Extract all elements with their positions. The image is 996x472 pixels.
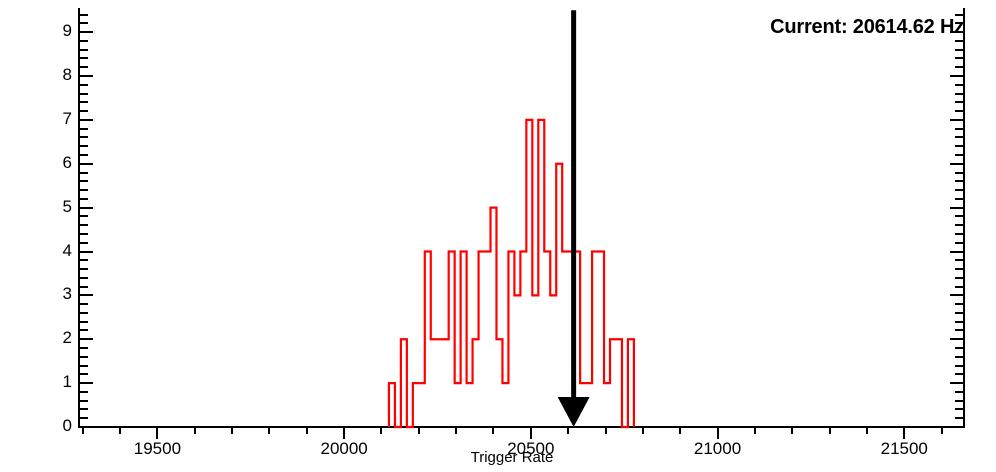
y-tick-minor [80,373,88,375]
y-tick-minor [80,286,88,288]
y-tick-minor [80,312,88,314]
y-tick-minor [80,180,88,182]
x-tick-major [903,428,905,439]
y-tick-label-wrap: 6 [42,154,72,171]
marker-arrow-head [558,397,590,427]
y-tick-minor [80,303,88,305]
right-tick-major [950,338,963,340]
right-tick-minor [955,66,963,68]
x-tick-minor [679,428,681,434]
y-tick-minor [80,93,88,95]
x-tick-major [530,428,532,439]
x-tick-minor [455,428,457,434]
right-tick-minor [955,128,963,130]
y-tick-label-wrap: 9 [42,22,72,39]
right-tick-minor [955,172,963,174]
right-tick-minor [955,154,963,156]
y-tick-major [80,75,93,77]
y-tick-minor [80,66,88,68]
x-tick-major [343,428,345,439]
y-tick-minor [80,101,88,103]
y-tick-major [80,382,93,384]
right-tick-minor [955,224,963,226]
y-tick-label: 0 [46,417,72,434]
root-canvas: 0123456789 1950020000205002100021500 Cur… [0,0,996,472]
right-tick-minor [955,347,963,349]
y-tick-minor [80,233,88,235]
x-tick-minor [82,428,84,434]
y-tick-major [80,163,93,165]
y-tick-major [80,294,93,296]
x-tick-minor [941,428,943,434]
y-tick-major [80,119,93,121]
right-tick-minor [955,40,963,42]
y-tick-label-wrap: 8 [42,66,72,83]
y-tick-label-wrap: 7 [42,110,72,127]
right-tick-minor [955,189,963,191]
right-tick-minor [955,400,963,402]
x-tick-minor [231,428,233,434]
y-tick-label-wrap: 1 [42,373,72,390]
y-tick-label: 4 [46,242,72,259]
y-tick-minor [80,321,88,323]
right-tick-major [950,382,963,384]
y-tick-major [80,251,93,253]
x-tick-minor [754,428,756,434]
x-tick-minor [194,428,196,434]
right-tick-minor [955,198,963,200]
y-tick-label-wrap: 4 [42,242,72,259]
y-tick-minor [80,172,88,174]
x-axis-title-text: Trigger Rate [471,449,554,466]
y-tick-minor [80,136,88,138]
y-tick-label: 5 [46,198,72,215]
y-tick-minor [80,408,88,410]
right-tick-minor [955,93,963,95]
y-tick-label: 1 [46,373,72,390]
y-tick-label-wrap: 2 [42,329,72,346]
y-tick-label: 6 [46,154,72,171]
y-tick-minor [80,329,88,331]
x-tick-minor [380,428,382,434]
y-tick-minor [80,22,88,24]
x-tick-major [156,428,158,439]
y-tick-minor [80,198,88,200]
y-tick-label: 8 [46,66,72,83]
y-tick-minor [80,215,88,217]
y-tick-minor [80,365,88,367]
y-tick-label: 3 [46,285,72,302]
y-tick-minor [80,224,88,226]
right-tick-minor [955,268,963,270]
right-tick-minor [955,312,963,314]
right-tick-minor [955,329,963,331]
right-tick-major [950,426,963,428]
right-tick-minor [955,242,963,244]
y-tick-minor [80,14,88,16]
right-tick-minor [955,286,963,288]
x-tick-minor [791,428,793,434]
y-tick-label: 2 [46,329,72,346]
right-tick-major [950,294,963,296]
right-tick-minor [955,321,963,323]
y-tick-minor [80,49,88,51]
y-tick-label: 9 [46,22,72,39]
right-tick-minor [955,136,963,138]
right-tick-minor [955,145,963,147]
plot-title: Current: 20614.62 Hz [770,16,964,39]
y-tick-minor [80,347,88,349]
x-axis-title: Trigger Rate [0,449,996,466]
y-tick-minor [80,154,88,156]
y-tick-minor [80,391,88,393]
y-tick-minor [80,277,88,279]
right-tick-minor [955,373,963,375]
y-tick-label: 7 [46,110,72,127]
y-tick-minor [80,400,88,402]
right-tick-major [950,207,963,209]
y-tick-label-wrap: 5 [42,198,72,215]
right-tick-minor [955,101,963,103]
right-tick-major [950,251,963,253]
right-tick-minor [955,233,963,235]
right-tick-minor [955,303,963,305]
right-tick-minor [955,408,963,410]
y-tick-minor [80,268,88,270]
y-tick-label-wrap: 0 [42,417,72,434]
y-tick-minor [80,417,88,419]
x-tick-minor [119,428,121,434]
y-tick-minor [80,242,88,244]
y-tick-minor [80,84,88,86]
right-tick-minor [955,259,963,261]
right-tick-minor [955,57,963,59]
x-tick-major [717,428,719,439]
right-tick-minor [955,417,963,419]
right-tick-major [950,75,963,77]
x-tick-minor [306,428,308,434]
y-tick-minor [80,145,88,147]
x-tick-minor [605,428,607,434]
right-tick-minor [955,277,963,279]
x-tick-minor [829,428,831,434]
right-tick-minor [955,180,963,182]
right-tick-minor [955,84,963,86]
right-tick-minor [955,49,963,51]
x-tick-minor [866,428,868,434]
x-tick-minor [268,428,270,434]
right-tick-minor [955,110,963,112]
y-tick-label-wrap: 3 [42,285,72,302]
y-tick-major [80,338,93,340]
current-value-marker [0,0,996,472]
right-tick-minor [955,365,963,367]
right-tick-minor [955,356,963,358]
right-tick-minor [955,215,963,217]
y-tick-major [80,31,93,33]
x-tick-minor [567,428,569,434]
x-tick-minor [492,428,494,434]
x-tick-minor [418,428,420,434]
y-tick-major [80,207,93,209]
y-tick-minor [80,57,88,59]
right-tick-minor [955,391,963,393]
y-tick-minor [80,259,88,261]
y-tick-minor [80,110,88,112]
right-tick-major [950,119,963,121]
y-tick-minor [80,128,88,130]
x-tick-minor [642,428,644,434]
right-tick-major [950,163,963,165]
y-tick-minor [80,356,88,358]
y-tick-minor [80,40,88,42]
y-tick-minor [80,189,88,191]
